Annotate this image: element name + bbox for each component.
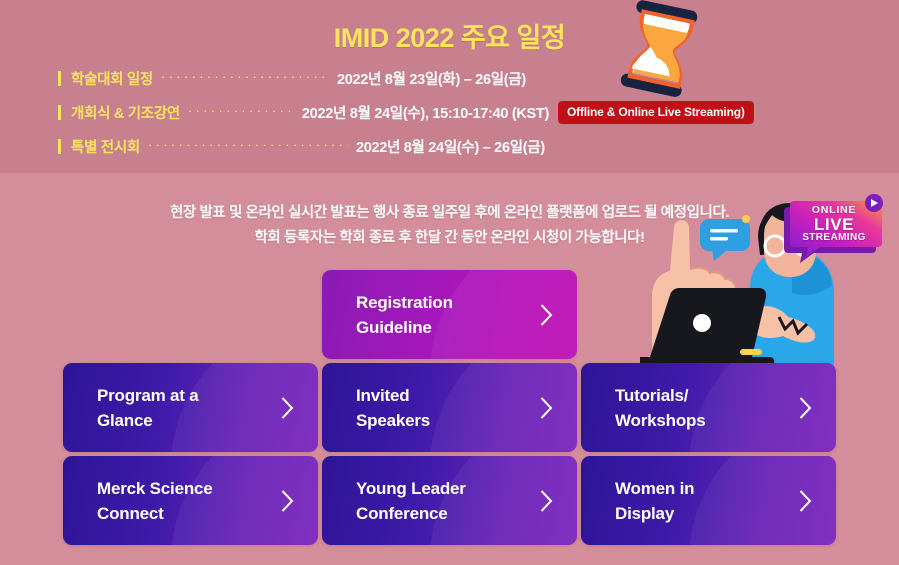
dot-leader: ··································: [161, 70, 329, 83]
chevron-right-icon: [540, 397, 553, 419]
schedule-row-value: 2022년 8월 24일(수) – 26일(금): [356, 136, 545, 157]
tile-young-leader-conference[interactable]: Young Leader Conference: [322, 456, 577, 545]
tile-merck-science-connect[interactable]: Merck Science Connect: [63, 456, 318, 545]
dot-leader: ········································…: [148, 138, 348, 151]
tile-label: Registration Guideline: [356, 290, 453, 340]
badge-text: ONLINE LIVE STREAMING: [794, 205, 874, 244]
chevron-right-icon: [281, 490, 294, 512]
tile-label: Tutorials/ Workshops: [615, 383, 705, 433]
page-title: IMID 2022 주요 일정: [0, 16, 899, 55]
chevron-right-icon: [540, 490, 553, 512]
tile-label: Women in Display: [615, 476, 694, 526]
row-marker-icon: [58, 139, 61, 154]
chevron-right-icon: [799, 397, 812, 419]
schedule-row: 개회식 & 기조강연 ·····························…: [58, 95, 848, 129]
tile-program-at-a-glance[interactable]: Program at a Glance: [63, 363, 318, 452]
tile-label: Program at a Glance: [97, 383, 199, 433]
schedule-panel: IMID 2022 주요 일정 학술대회 일정 ················…: [0, 0, 899, 173]
quick-links-row: Program at a Glance Invited Speakers Tut…: [63, 363, 836, 452]
schedule-row: 학술대회 일정 ································…: [58, 61, 848, 95]
online-live-streaming-badge: ONLINE LIVE STREAMING: [784, 193, 888, 265]
schedule-row: 특별 전시회 ·································…: [58, 129, 848, 163]
status-badge: Offline & Online Live Streaming): [558, 101, 754, 124]
tile-label: Merck Science Connect: [97, 476, 213, 526]
schedule-row-label: 개회식 & 기조강연: [71, 102, 180, 123]
imid-2022-promo-banner: IMID 2022 주요 일정 학술대회 일정 ················…: [0, 0, 899, 565]
badge-line-2: LIVE: [794, 216, 874, 234]
row-marker-icon: [58, 105, 61, 120]
dot-leader: ··································: [188, 104, 294, 117]
quick-links-row: Registration Guideline: [63, 270, 836, 359]
row-marker-icon: [58, 71, 61, 86]
schedule-row-label: 학술대회 일정: [71, 68, 153, 89]
schedule-row-value: 2022년 8월 24일(수), 15:10-17:40 (KST): [302, 102, 549, 123]
tile-registration-guideline[interactable]: Registration Guideline: [322, 270, 577, 359]
tile-women-in-display[interactable]: Women in Display: [581, 456, 836, 545]
tile-tutorials-workshops[interactable]: Tutorials/ Workshops: [581, 363, 836, 452]
schedule-row-label: 특별 전시회: [71, 136, 140, 157]
schedule-row-value: 2022년 8월 23일(화) – 26일(금): [337, 68, 526, 89]
content-section: 현장 발표 및 온라인 실시간 발표는 행사 종료 일주일 후에 온라인 플랫폼…: [0, 173, 899, 565]
tile-invited-speakers[interactable]: Invited Speakers: [322, 363, 577, 452]
schedule-rows: 학술대회 일정 ································…: [58, 61, 848, 163]
chevron-right-icon: [540, 304, 553, 326]
chevron-right-icon: [799, 490, 812, 512]
chevron-right-icon: [281, 397, 294, 419]
badge-line-3: STREAMING: [794, 233, 874, 243]
quick-links-grid: Registration Guideline Program at a Glan…: [63, 270, 836, 549]
quick-links-row: Merck Science Connect Young Leader Confe…: [63, 456, 836, 545]
tile-label: Invited Speakers: [356, 383, 430, 433]
tile-label: Young Leader Conference: [356, 476, 466, 526]
